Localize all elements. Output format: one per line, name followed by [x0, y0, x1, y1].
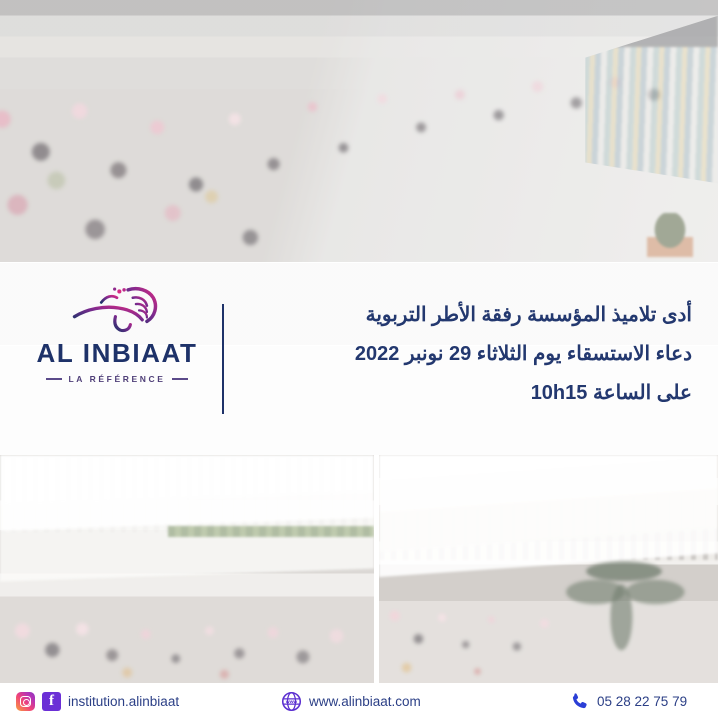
- svg-text:www: www: [285, 700, 298, 705]
- instagram-icon[interactable]: [16, 692, 35, 711]
- phone-contact-group[interactable]: 05 28 22 75 79: [569, 691, 687, 712]
- photo-top-courtyard-assembly: [0, 0, 718, 262]
- photo-bottom-right-multilevel-courtyard: [379, 455, 718, 683]
- tagline-text: LA RÉFÉRENCE: [68, 374, 165, 384]
- headline-line-1: أدى تلاميذ المؤسسة رفقة الأطر التربوية: [252, 296, 692, 335]
- headline-line-2: دعاء الاستسقاء يوم الثلاثاء 29 نونبر 202…: [252, 335, 692, 374]
- website-label: www.alinbiaat.com: [309, 694, 421, 709]
- band-top-rule: [0, 262, 718, 263]
- phone-label: 05 28 22 75 79: [597, 694, 687, 709]
- contact-footer: f institution.alinbiaat www www.alinbiaa…: [0, 683, 718, 720]
- tagline-dash-left: [46, 378, 62, 380]
- brand-wordmark: AL INBIAAT: [37, 338, 198, 369]
- brand-logo: AL INBIAAT LA RÉFÉRENCE: [28, 282, 206, 394]
- brand-tagline: LA RÉFÉRENCE: [46, 374, 187, 384]
- headline-line-3: على الساعة 10h15: [252, 374, 692, 413]
- facebook-icon[interactable]: f: [42, 692, 61, 711]
- arabic-calligraphy-logo-mark-icon: [69, 282, 165, 334]
- phone-icon[interactable]: [569, 691, 590, 712]
- headline-block: أدى تلاميذ المؤسسة رفقة الأطر التربوية د…: [252, 296, 692, 413]
- photo-white-wash-overlay: [0, 0, 718, 262]
- photo-white-wash-overlay: [0, 455, 374, 683]
- social-media-poster: AL INBIAAT LA RÉFÉRENCE أدى تلاميذ المؤس…: [0, 0, 718, 720]
- social-contact-group[interactable]: f institution.alinbiaat: [16, 692, 179, 711]
- vertical-divider: [222, 304, 224, 414]
- photo-bottom-left-balconies-crowd: [0, 455, 374, 683]
- website-contact-group[interactable]: www www.alinbiaat.com: [281, 691, 421, 712]
- globe-icon[interactable]: www: [281, 691, 302, 712]
- tagline-dash-right: [172, 378, 188, 380]
- photo-white-wash-overlay: [379, 455, 718, 683]
- social-handle-label: institution.alinbiaat: [68, 694, 179, 709]
